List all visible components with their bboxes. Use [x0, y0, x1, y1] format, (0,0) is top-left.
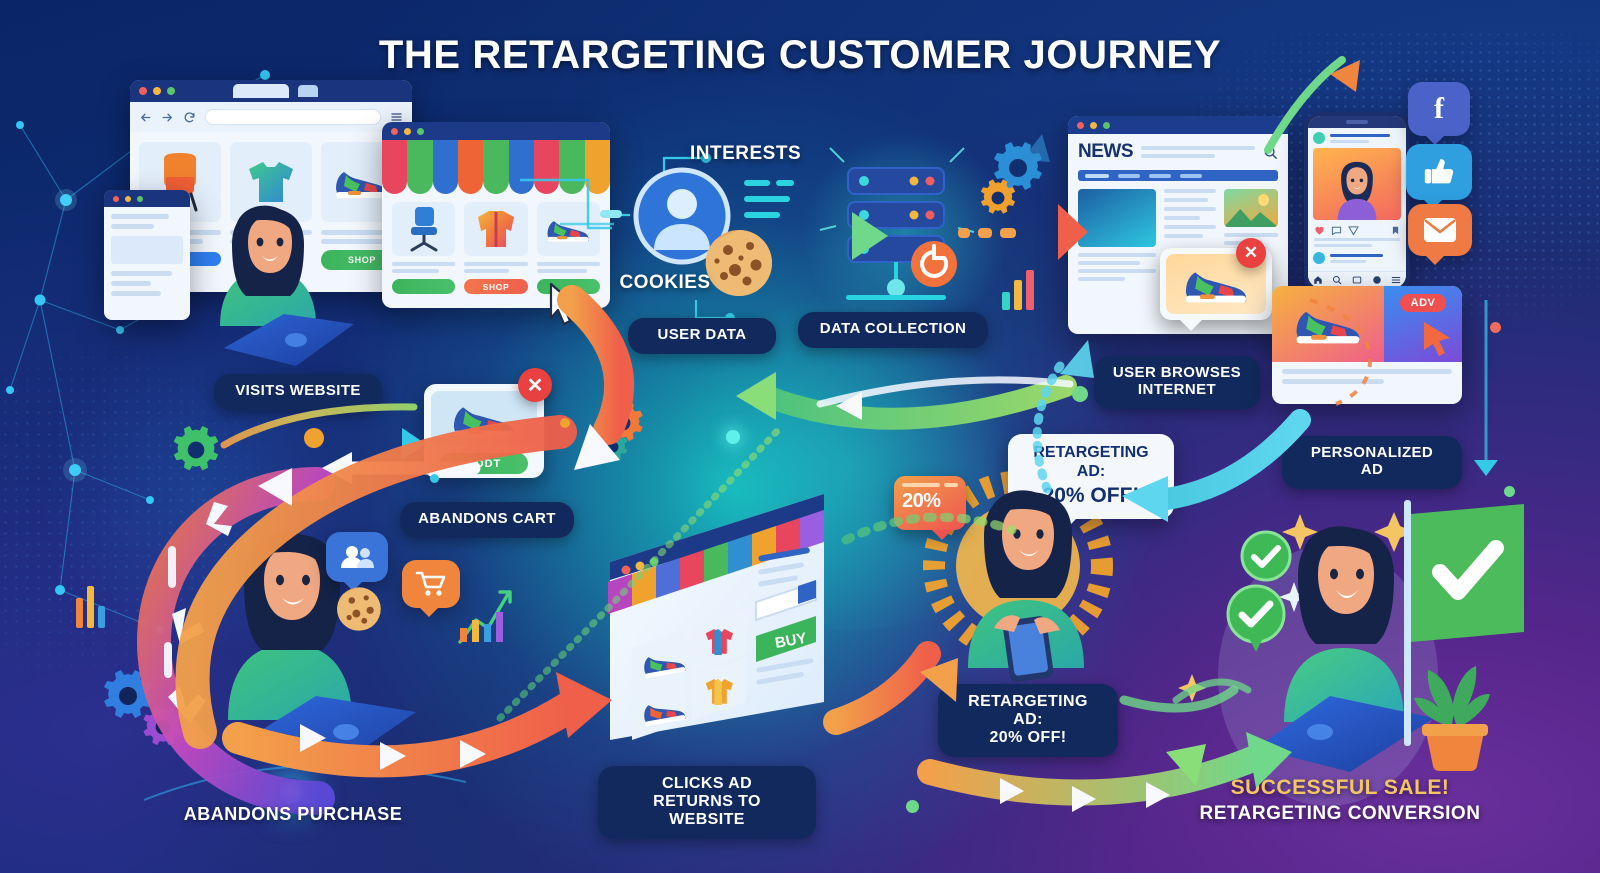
browser-tab[interactable]: [233, 84, 289, 98]
phone-post-header: [1308, 128, 1406, 148]
envelope-icon-bubble[interactable]: [1408, 204, 1472, 256]
person-abandons-purchase: [206, 520, 426, 750]
news-navbar[interactable]: [1078, 170, 1278, 181]
secondary-min-dot[interactable]: [125, 196, 131, 202]
search-icon[interactable]: [1332, 275, 1342, 285]
phone-post-actions[interactable]: [1308, 220, 1406, 238]
coupon-percent-label: 20%: [902, 490, 958, 513]
close-x-icon-news-ad[interactable]: ✕: [1236, 238, 1266, 268]
bar-chart-icon-right: [1000, 262, 1046, 310]
people-icon-bubble[interactable]: [326, 532, 388, 582]
heart-icon[interactable]: [1314, 225, 1325, 236]
window-minimize-dot[interactable]: [153, 87, 161, 95]
step-label-data-collection: DATA COLLECTION: [798, 312, 988, 348]
accent-dot-2: [906, 800, 919, 813]
interests-lines: [744, 178, 824, 232]
news-min-dot[interactable]: [1090, 122, 1097, 129]
forward-arrow-icon[interactable]: [161, 111, 174, 124]
accent-dot-6: [726, 430, 740, 444]
thumbs-up-icon: [1422, 155, 1456, 189]
page-title: THE RETARGETING CUSTOMER JOURNEY: [0, 32, 1600, 78]
avatar: [1313, 252, 1325, 264]
step-label-retargeting-ad: RETARGETING AD: 20% OFF!: [938, 684, 1118, 757]
bookmark-icon[interactable]: [1391, 225, 1400, 236]
person-retargeting-ad: [956, 478, 1116, 678]
back-arrow-icon[interactable]: [139, 111, 152, 124]
store-awning: [382, 140, 610, 194]
step-label-user-browses: USER BROWSES INTERNET: [1094, 356, 1260, 409]
facebook-icon: f: [1434, 94, 1444, 124]
phone-statusbar: [1308, 116, 1406, 128]
accent-dot-5: [560, 418, 570, 428]
sneaker-icon: [544, 214, 592, 244]
store-close-dot[interactable]: [391, 128, 398, 135]
news-masthead: NEWS: [1078, 141, 1133, 163]
shopping-cart-icon: [416, 571, 446, 597]
step-label-retargeting-conversion: RETARGETING CONVERSION: [1180, 803, 1500, 825]
browser-new-tab[interactable]: [298, 85, 318, 97]
return-store-illustration: BUY: [580, 452, 842, 752]
step-label-user-data: USER DATA: [628, 318, 776, 354]
store-min-dot[interactable]: [404, 128, 411, 135]
return-store-window[interactable]: BUY: [580, 452, 842, 752]
personalized-ad-window[interactable]: ADV: [1272, 286, 1462, 404]
label-cookies: COOKIES: [600, 272, 730, 294]
news-masthead-row: NEWS: [1068, 134, 1288, 163]
close-x-icon-cart[interactable]: ✕: [518, 368, 552, 402]
cookie-icon-small: [336, 586, 382, 632]
reload-icon[interactable]: [183, 111, 196, 124]
office-chair-icon: [404, 205, 444, 253]
step-label-clicks-ad: CLICKS AD RETURNS TO WEBSITE: [598, 766, 816, 839]
secondary-max-dot[interactable]: [137, 196, 143, 202]
gear-icon-orange: [978, 178, 1018, 218]
phone-post-image: [1313, 148, 1401, 220]
envelope-icon: [1423, 217, 1457, 243]
sneaker-icon: [1174, 262, 1258, 306]
office-chair-thumbnail: [392, 202, 455, 256]
step-label-abandons-purchase: ABANDONS PURCHASE: [148, 804, 438, 825]
thumbs-up-icon-bubble[interactable]: [1406, 144, 1472, 200]
step-label-visits-website: VISITS WEBSITE: [214, 374, 382, 410]
label-interests: INTERESTS: [690, 143, 890, 165]
news-hero-image: [1078, 189, 1156, 247]
cart-icon-bubble[interactable]: [402, 560, 460, 608]
step-label-personalized-ad: PERSONALIZED AD: [1282, 436, 1462, 489]
window-close-dot[interactable]: [139, 87, 147, 95]
media-icon[interactable]: [1352, 275, 1362, 285]
news-thumb-image: [1224, 189, 1278, 227]
buy-button[interactable]: [752, 612, 818, 644]
store-sneaker-thumbnail: [537, 202, 600, 256]
smartphone[interactable]: [1304, 112, 1410, 292]
accent-dot-4: [1504, 486, 1515, 497]
store-product-office-chair[interactable]: [392, 202, 455, 304]
potted-plant-icon: [1400, 640, 1510, 770]
person-visits-website: [178, 198, 378, 368]
people-icon: [340, 545, 374, 569]
facebook-icon-bubble[interactable]: f: [1408, 82, 1470, 136]
phone-post-header-2: [1308, 247, 1406, 264]
news-close-dot[interactable]: [1077, 122, 1084, 129]
jacket-thumbnail: [464, 202, 527, 256]
ad-product-image: [1272, 286, 1384, 362]
store-product-jacket[interactable]: SHOP: [464, 202, 527, 304]
store-window[interactable]: SHOP: [382, 122, 610, 308]
avatar: [1313, 132, 1325, 144]
home-icon[interactable]: [1313, 275, 1323, 285]
browser-titlebar: [130, 80, 412, 102]
gear-icon-green-left: [170, 424, 222, 476]
bar-chart-icon-left: [456, 580, 512, 646]
browser-toolbar: [130, 102, 412, 132]
sneaker-icon: [441, 397, 527, 441]
person-photo-icon: [1313, 148, 1401, 220]
cursor-arrow-icon: [1418, 318, 1458, 358]
adv-badge: ADV: [1400, 294, 1447, 312]
jacket-icon: [475, 206, 517, 252]
server-stack-icon: [838, 166, 958, 316]
speech-line-1: RETARGETING AD:: [1024, 444, 1158, 482]
infographic-canvas: THE RETARGETING CUSTOMER JOURNEY: [0, 0, 1600, 873]
bar-chart-icon-small: [74, 576, 108, 628]
secondary-close-dot[interactable]: [113, 196, 119, 202]
url-bar[interactable]: [205, 109, 381, 125]
store-titlebar: [382, 122, 610, 140]
search-icon[interactable]: [1263, 145, 1278, 160]
add-to-cart-button[interactable]: ADDT: [440, 453, 528, 474]
accent-dot-1: [1072, 386, 1088, 402]
store-chair-button[interactable]: [392, 279, 455, 294]
menu-icon[interactable]: [1391, 275, 1401, 285]
cart-product-thumbnail: [431, 391, 537, 446]
accent-dot-7: [430, 474, 439, 483]
store-max-dot[interactable]: [417, 128, 424, 135]
step-label-successful-sale: SUCCESSFUL SALE!: [1190, 776, 1490, 800]
news-titlebar: [1068, 116, 1288, 134]
send-icon[interactable]: [1348, 225, 1359, 236]
comment-icon[interactable]: [1331, 225, 1342, 236]
profile-icon[interactable]: [1372, 275, 1382, 285]
ad-badge-panel: ADV: [1384, 286, 1462, 362]
mouse-cursor-icon: [548, 282, 582, 326]
sneaker-icon: [1285, 301, 1371, 347]
image-placeholder-icon: [1224, 189, 1278, 227]
personalized-ad-content: ADV: [1272, 286, 1462, 362]
news-max-dot[interactable]: [1103, 122, 1110, 129]
store-shop-button[interactable]: SHOP: [464, 279, 527, 294]
window-maximize-dot[interactable]: [167, 87, 175, 95]
accent-dot-3: [1490, 322, 1501, 333]
